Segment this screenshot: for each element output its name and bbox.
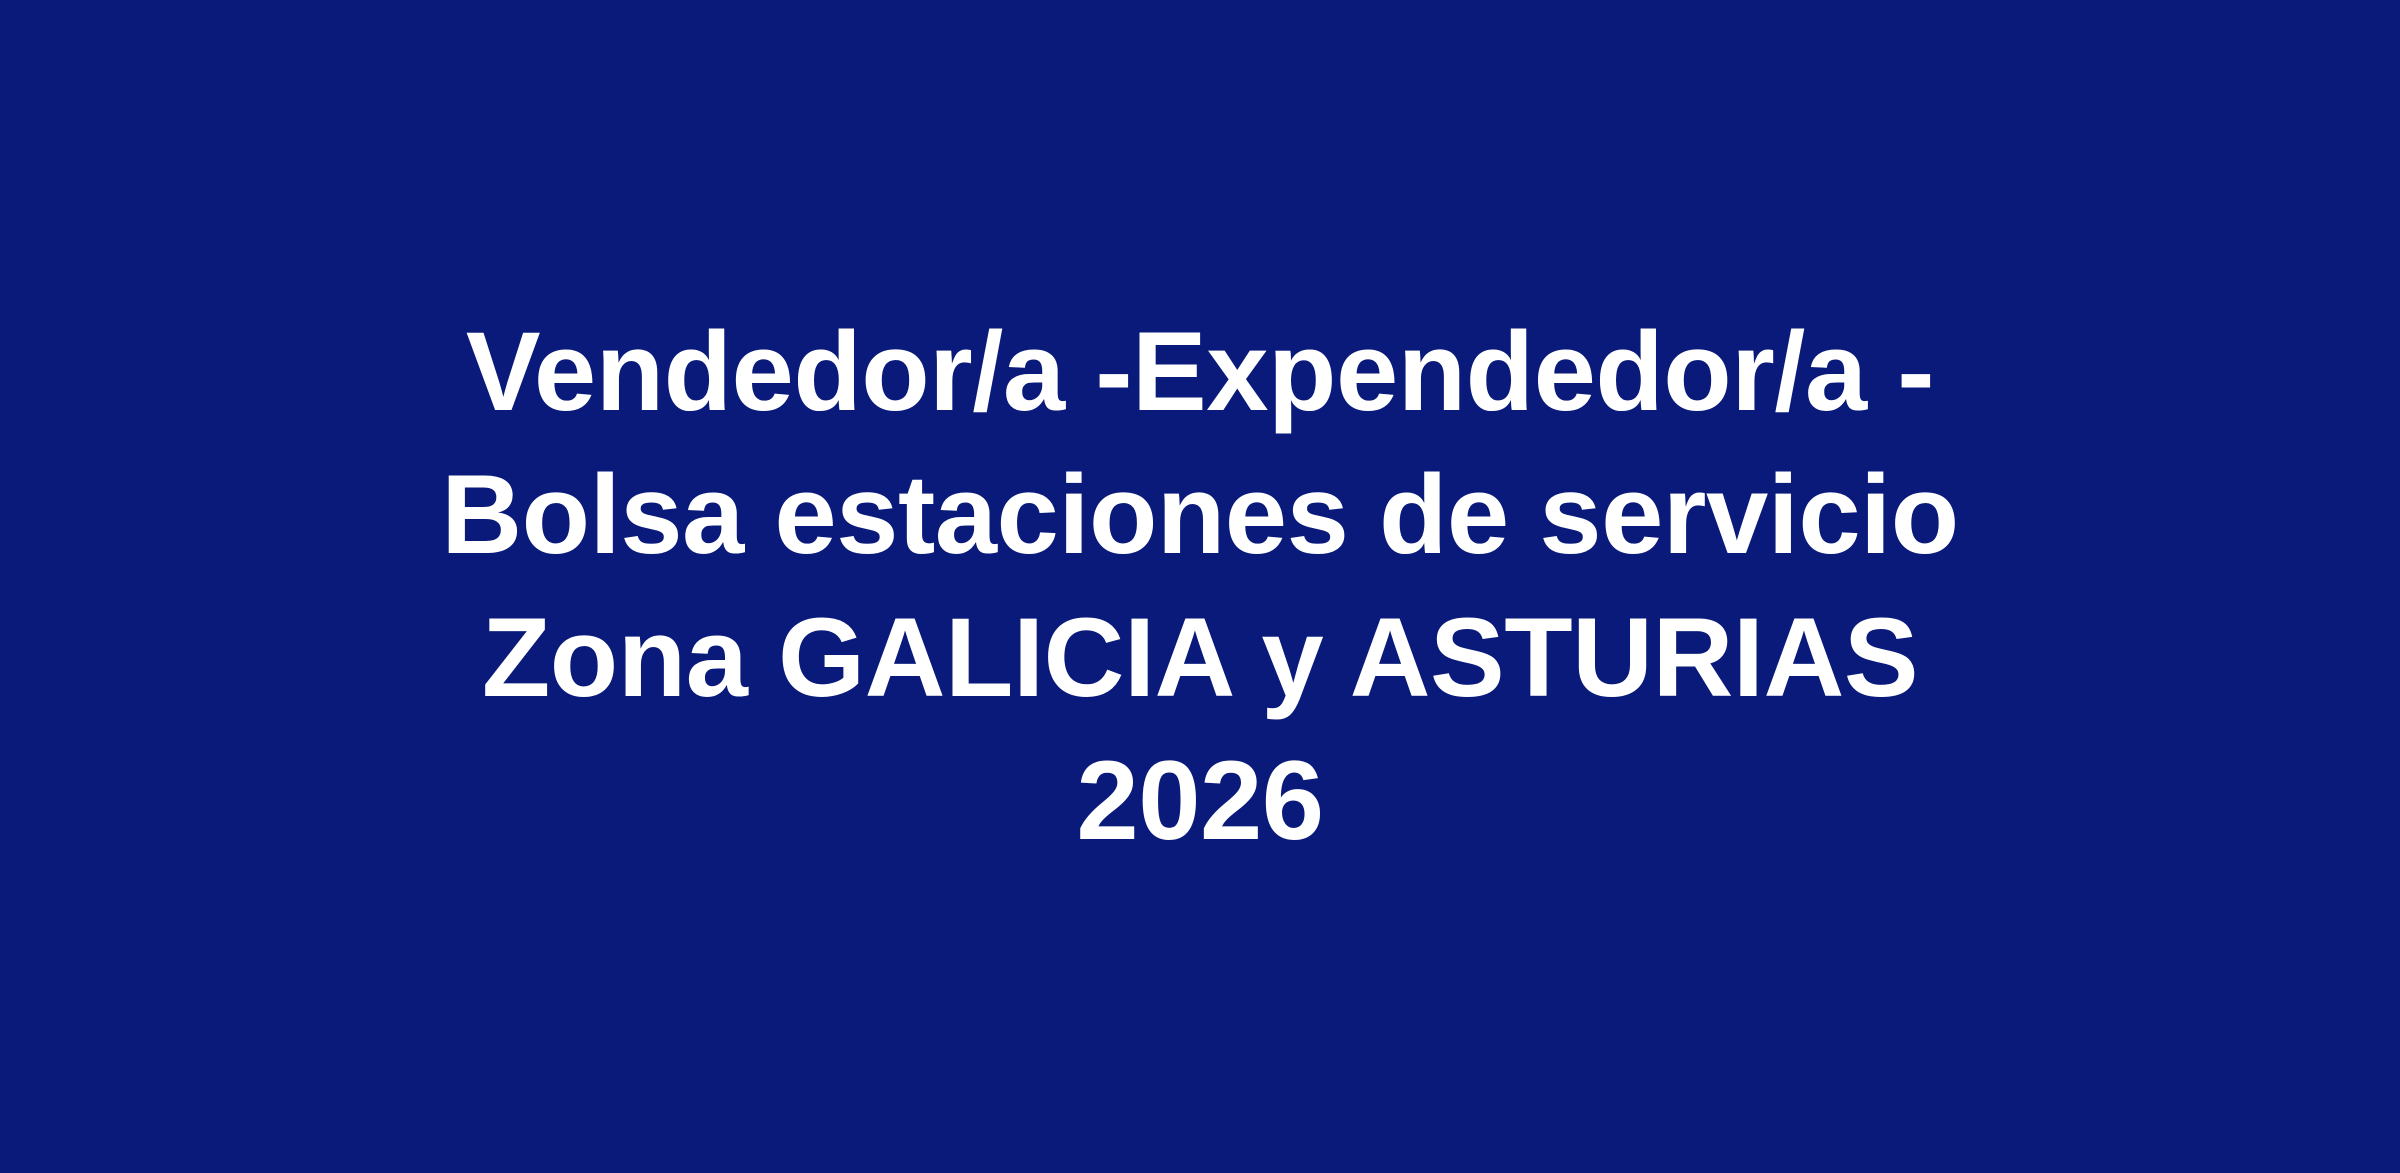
title-line-4-year: 2026: [350, 729, 2050, 872]
title-block: Vendedor/a -Expendedor/a - Bolsa estacio…: [350, 300, 2050, 872]
title-line-3: Zona GALICIA y ASTURIAS: [350, 586, 2050, 729]
title-slide: Vendedor/a -Expendedor/a - Bolsa estacio…: [0, 0, 2400, 1173]
title-line-1: Vendedor/a -Expendedor/a -: [350, 300, 2050, 443]
title-line-2: Bolsa estaciones de servicio: [350, 443, 2050, 586]
